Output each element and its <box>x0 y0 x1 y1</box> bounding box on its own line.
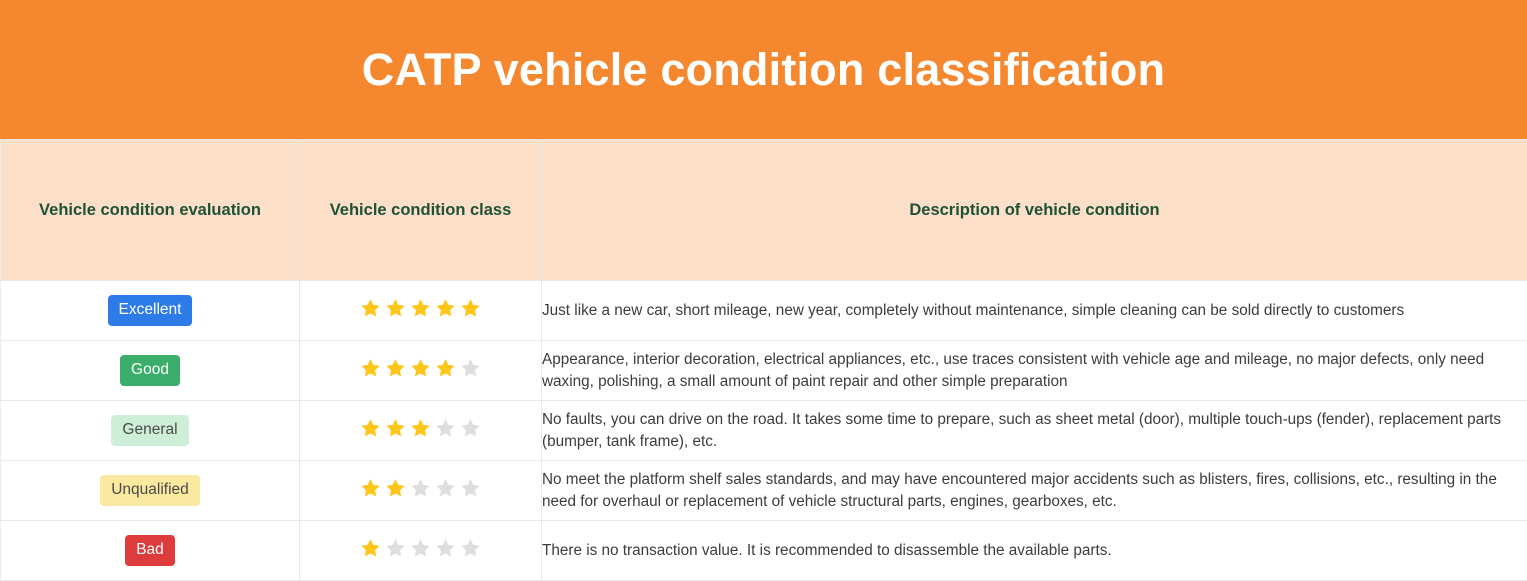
star-icon <box>384 297 407 320</box>
star-icon <box>459 477 482 500</box>
cell-evaluation: General <box>1 401 300 461</box>
table-row: ExcellentJust like a new car, short mile… <box>1 281 1527 341</box>
star-rating <box>359 537 482 560</box>
star-icon <box>409 537 432 560</box>
column-header-evaluation: Vehicle condition evaluation <box>1 140 300 281</box>
star-icon <box>359 417 382 440</box>
cell-class <box>300 461 542 521</box>
star-icon <box>434 297 457 320</box>
page-title: CATP vehicle condition classification <box>362 45 1165 95</box>
table-body: ExcellentJust like a new car, short mile… <box>1 281 1527 581</box>
star-icon <box>384 537 407 560</box>
cell-class <box>300 401 542 461</box>
star-icon <box>409 297 432 320</box>
cell-description: There is no transaction value. It is rec… <box>542 521 1527 581</box>
column-header-class: Vehicle condition class <box>300 140 542 281</box>
star-icon <box>434 477 457 500</box>
cell-description: Just like a new car, short mileage, new … <box>542 281 1527 341</box>
star-icon <box>434 357 457 380</box>
star-icon <box>359 357 382 380</box>
cell-description: No faults, you can drive on the road. It… <box>542 401 1527 461</box>
star-icon <box>409 417 432 440</box>
cell-class <box>300 341 542 401</box>
status-badge: General <box>111 415 188 446</box>
star-icon <box>384 357 407 380</box>
star-icon <box>434 537 457 560</box>
star-icon <box>359 297 382 320</box>
title-banner: CATP vehicle condition classification <box>0 0 1527 139</box>
table-header-row: Vehicle condition evaluation Vehicle con… <box>1 140 1527 281</box>
star-rating <box>359 357 482 380</box>
table-row: BadThere is no transaction value. It is … <box>1 521 1527 581</box>
star-icon <box>359 477 382 500</box>
star-rating <box>359 417 482 440</box>
cell-description: No meet the platform shelf sales standar… <box>542 461 1527 521</box>
cell-class <box>300 281 542 341</box>
status-badge: Unqualified <box>100 475 200 506</box>
column-header-description: Description of vehicle condition <box>542 140 1527 281</box>
star-icon <box>459 417 482 440</box>
table-row: GoodAppearance, interior decoration, ele… <box>1 341 1527 401</box>
cell-description: Appearance, interior decoration, electri… <box>542 341 1527 401</box>
cell-evaluation: Bad <box>1 521 300 581</box>
cell-evaluation: Unqualified <box>1 461 300 521</box>
star-icon <box>434 417 457 440</box>
star-icon <box>384 477 407 500</box>
star-icon <box>359 537 382 560</box>
vehicle-condition-classification-page: CATP vehicle condition classification Ve… <box>0 0 1527 579</box>
table-row: GeneralNo faults, you can drive on the r… <box>1 401 1527 461</box>
star-rating <box>359 297 482 320</box>
cell-evaluation: Excellent <box>1 281 300 341</box>
vehicle-condition-table: Vehicle condition evaluation Vehicle con… <box>0 139 1527 581</box>
status-badge: Good <box>120 355 180 386</box>
star-icon <box>459 537 482 560</box>
star-icon <box>459 297 482 320</box>
star-icon <box>459 357 482 380</box>
status-badge: Excellent <box>108 295 193 326</box>
table-row: UnqualifiedNo meet the platform shelf sa… <box>1 461 1527 521</box>
star-icon <box>409 357 432 380</box>
star-rating <box>359 477 482 500</box>
table-header: Vehicle condition evaluation Vehicle con… <box>1 140 1527 281</box>
star-icon <box>409 477 432 500</box>
status-badge: Bad <box>125 535 175 566</box>
cell-evaluation: Good <box>1 341 300 401</box>
cell-class <box>300 521 542 581</box>
star-icon <box>384 417 407 440</box>
